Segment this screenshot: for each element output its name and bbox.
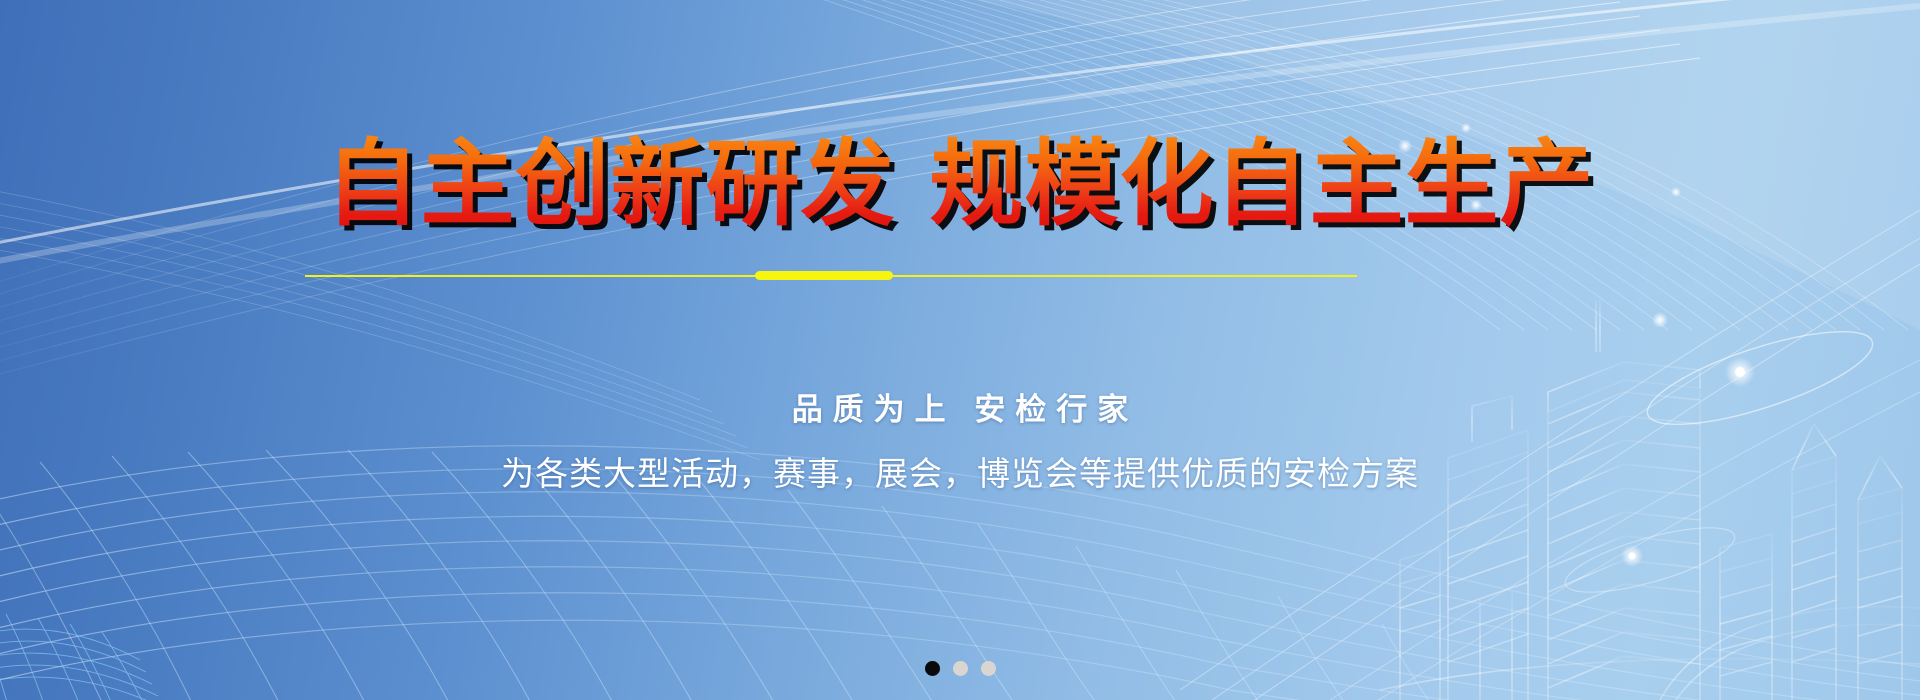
banner-tagline: 品质为上 安检行家 bbox=[0, 384, 1920, 429]
banner-subtitle: 为各类大型活动，赛事，展会，博览会等提供优质的安检方案 bbox=[0, 447, 1920, 495]
headline-part-2: 规模化自主生产 bbox=[930, 130, 1595, 239]
decorative-divider bbox=[305, 274, 1357, 277]
divider-accent-bar bbox=[755, 271, 893, 280]
carousel-dot-1[interactable] bbox=[925, 661, 940, 676]
banner-headline: 自主创新研发规模化自主生产 bbox=[0, 135, 1920, 235]
hero-banner: 自主创新研发规模化自主生产 品质为上 安检行家 为各类大型活动，赛事，展会，博览… bbox=[0, 0, 1920, 700]
headline-part-1: 自主创新研发 bbox=[325, 130, 895, 239]
carousel-dot-2[interactable] bbox=[953, 661, 968, 676]
carousel-dot-3[interactable] bbox=[981, 661, 996, 676]
banner-content: 自主创新研发规模化自主生产 品质为上 安检行家 为各类大型活动，赛事，展会，博览… bbox=[0, 0, 1920, 700]
carousel-indicators[interactable] bbox=[0, 661, 1920, 676]
